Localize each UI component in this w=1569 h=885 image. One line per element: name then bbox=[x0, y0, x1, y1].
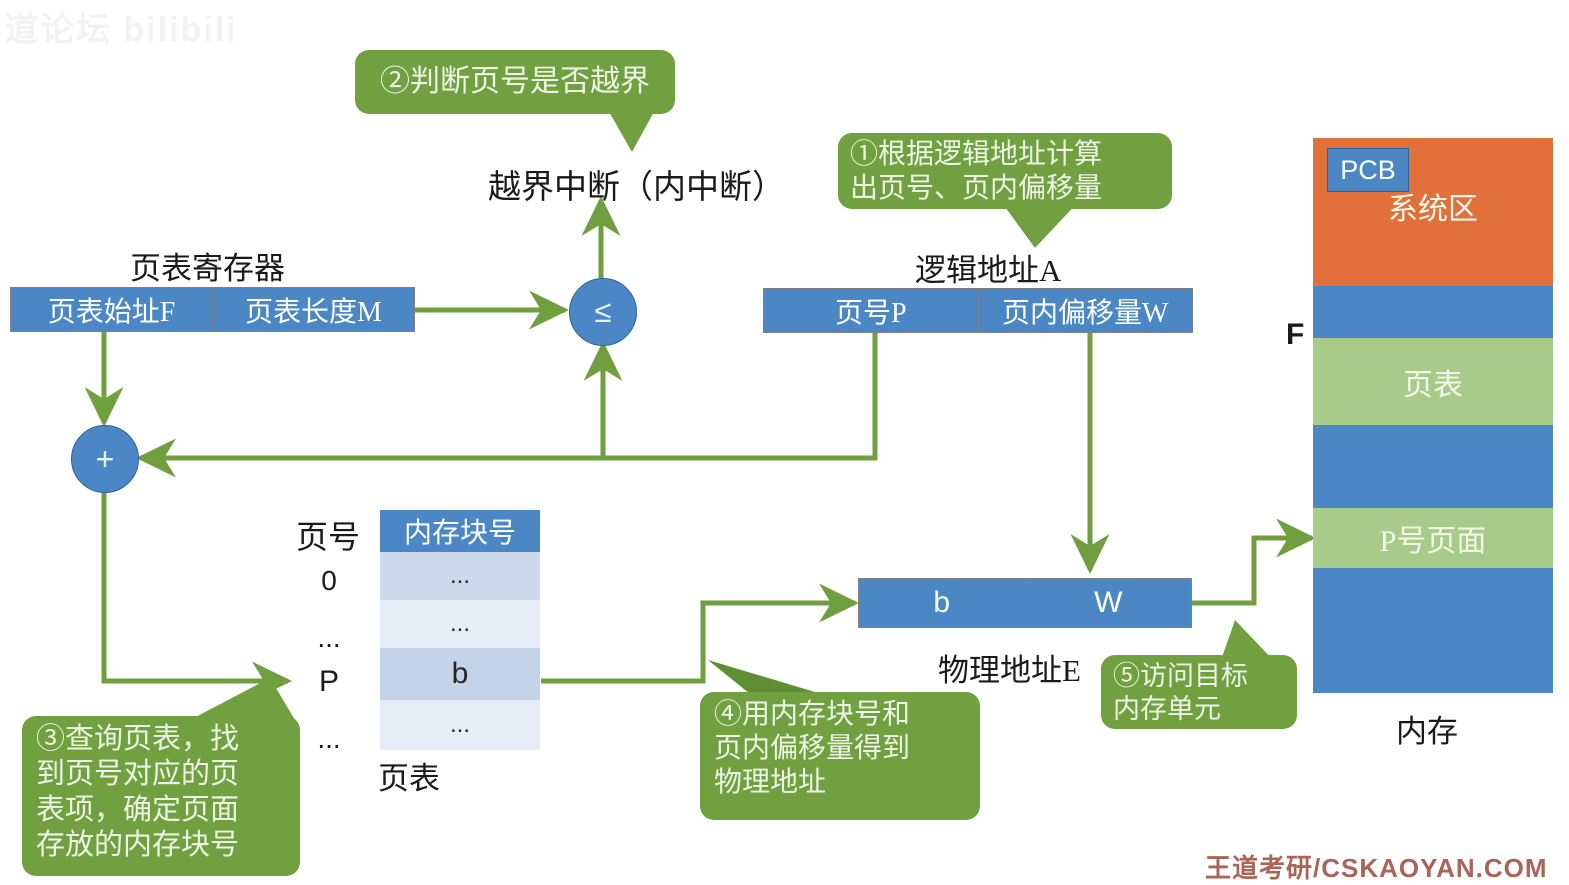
bilibili-watermark: 道论坛 bilibili bbox=[4, 2, 238, 51]
callout-step2: ②判断页号是否越界 bbox=[355, 50, 675, 114]
callout-step4-line-0: ④用内存块号和 bbox=[714, 698, 966, 732]
callout-step5-line-0: ⑤访问目标 bbox=[1113, 660, 1285, 693]
memory-block-free-3 bbox=[1313, 568, 1553, 693]
memory-f-marker: F bbox=[1286, 318, 1304, 352]
callout-step1-line-0: ①根据逻辑地址计算 bbox=[850, 138, 1160, 172]
page-table-cell-2: b bbox=[380, 648, 540, 700]
memory-block-free-2 bbox=[1313, 425, 1553, 508]
callout-step1: ①根据逻辑地址计算 出页号、页内偏移量 bbox=[838, 133, 1172, 209]
physical-address-label: 物理地址E bbox=[938, 645, 1081, 690]
callout-step3: ③查询页表，找 到页号对应的页 表项，确定页面 存放的内存块号 bbox=[22, 716, 300, 876]
logical-field-offset: 页内偏移量W bbox=[978, 289, 1193, 332]
logical-field-page-number: 页号P bbox=[764, 289, 978, 332]
physical-field-block-number: b bbox=[859, 579, 1025, 627]
comparator-circle: ≤ bbox=[569, 278, 637, 346]
logical-address-box: 页号P 页内偏移量W bbox=[763, 288, 1193, 333]
page-number-column-header: 页号 bbox=[296, 512, 360, 558]
callout-step3-line-2: 表项，确定页面 bbox=[36, 793, 286, 828]
page-table-index-3: ... bbox=[300, 723, 358, 755]
page-table-cell-3: ... bbox=[380, 700, 540, 750]
brand-watermark: 王道考研/CSKAOYAN.COM bbox=[1205, 848, 1548, 885]
callout-step4: ④用内存块号和 页内偏移量得到 物理地址 bbox=[700, 692, 980, 820]
memory-block-free-1 bbox=[1313, 286, 1553, 338]
memory-block-page-table: 页表 bbox=[1313, 338, 1553, 425]
register-field-start-address: 页表始址F bbox=[11, 288, 212, 331]
diagram-canvas: 道论坛 bilibili 王道考研/CSKAOYAN.COM bbox=[0, 0, 1569, 873]
physical-field-offset: W bbox=[1025, 579, 1192, 627]
overflow-interrupt-label: 越界中断（内中断） bbox=[488, 160, 785, 208]
callout-step4-line-1: 页内偏移量得到 bbox=[714, 732, 966, 766]
callout-step3-line-0: ③查询页表，找 bbox=[36, 722, 286, 757]
page-table-index-0: 0 bbox=[300, 565, 358, 597]
memory-pcb-box: PCB bbox=[1327, 148, 1409, 192]
page-table-cell-0: ... bbox=[380, 552, 540, 600]
memory-caption: 内存 bbox=[1396, 706, 1458, 751]
page-table: 内存块号 ... ... b ... bbox=[380, 510, 540, 750]
memory-block-page-p: P号页面 bbox=[1313, 508, 1553, 568]
callout-step3-line-3: 存放的内存块号 bbox=[36, 828, 286, 863]
page-table-index-1: ... bbox=[300, 622, 358, 654]
callout-step5-line-1: 内存单元 bbox=[1113, 693, 1285, 726]
callout-step3-line-1: 到页号对应的页 bbox=[36, 757, 286, 792]
callout-step5: ⑤访问目标 内存单元 bbox=[1101, 655, 1297, 729]
page-table-header-cell: 内存块号 bbox=[380, 510, 540, 552]
callout-step2-line-0: ②判断页号是否越界 bbox=[380, 64, 650, 101]
register-field-length: 页表长度M bbox=[212, 288, 414, 331]
adder-circle: + bbox=[71, 425, 139, 493]
logical-address-label: 逻辑地址A bbox=[915, 245, 1061, 290]
page-table-register-label: 页表寄存器 bbox=[130, 243, 285, 288]
memory-column: 系统区 PCB 页表 P号页面 bbox=[1313, 138, 1553, 693]
callout-step1-line-1: 出页号、页内偏移量 bbox=[850, 172, 1160, 206]
page-table-caption: 页表 bbox=[378, 753, 440, 798]
page-table-index-2: P bbox=[300, 665, 358, 699]
page-table-cell-1: ... bbox=[380, 600, 540, 648]
page-table-register-box: 页表始址F 页表长度M bbox=[10, 287, 415, 332]
physical-address-box: b W bbox=[858, 578, 1192, 628]
callout-step2-tail bbox=[560, 110, 680, 160]
callout-step4-line-2: 物理地址 bbox=[714, 766, 966, 800]
